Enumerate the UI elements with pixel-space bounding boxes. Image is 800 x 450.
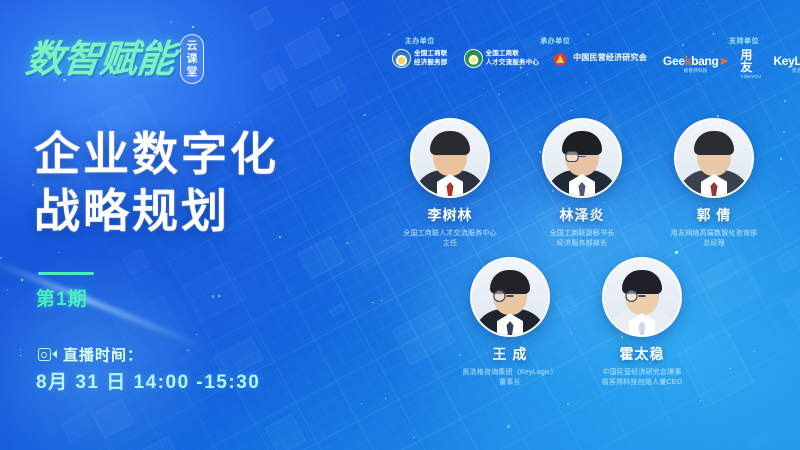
page-title-line-1: 企业数字化 bbox=[34, 126, 364, 183]
page-title-line-2: 战略规划 bbox=[34, 183, 364, 240]
partner-group-2: 支持单位Geekbang➤极客邦科技用友YONYOUKeyLogic凯洛格 bbox=[663, 36, 800, 79]
partner-wordmark-sub: 极客邦科技 bbox=[684, 68, 708, 74]
brand-wordmark: 数智赋能 bbox=[24, 40, 176, 78]
glasses-icon bbox=[626, 290, 659, 301]
emblem-green-icon bbox=[464, 49, 483, 68]
avatar bbox=[410, 118, 490, 198]
partner-group-label: 支持单位 bbox=[729, 36, 759, 46]
avatar bbox=[470, 257, 550, 337]
brand-logo: 数智赋能 云 课 堂 bbox=[26, 34, 204, 84]
speaker-card: 王 成凯洛格咨询集团（KeyLogic）董事长 bbox=[446, 257, 574, 388]
emblem-red-icon bbox=[551, 49, 570, 68]
avatar bbox=[602, 257, 682, 337]
partner-logo: 中国民营经济研究会 bbox=[551, 49, 647, 68]
speaker-name: 郭 倩 bbox=[697, 205, 732, 225]
brand-badge-cloud-classroom: 云 课 堂 bbox=[180, 34, 204, 84]
speaker-card: 霍太稳中国民营经济研究会理事极客邦科技创始人兼CEO bbox=[578, 257, 706, 388]
partner-group-logos: Geekbang➤极客邦科技用友YONYOUKeyLogic凯洛格 bbox=[663, 49, 800, 79]
partner-wordmark: KeyLogic bbox=[773, 55, 800, 67]
speaker-title: 全国工商联人才交流服务中心主任 bbox=[403, 229, 497, 249]
partner-group-0: 主办单位全国工商联经济服务部 bbox=[392, 36, 448, 68]
glasses-icon bbox=[494, 290, 527, 301]
speakers-row-bottom: 王 成凯洛格咨询集团（KeyLogic）董事长霍太稳中国民营经济研究会理事极客邦… bbox=[446, 257, 786, 388]
brand-badge-char-3: 堂 bbox=[187, 66, 198, 78]
live-datetime: 8月 31 日 14:00 -15:30 bbox=[36, 367, 260, 394]
partner-group-label: 承办单位 bbox=[540, 36, 570, 46]
speaker-title: 全国工商联副秘书长经济服务部部长 bbox=[550, 229, 615, 249]
video-camera-icon bbox=[38, 348, 57, 361]
partner-logo: 全国工商联人才交流服务中心 bbox=[464, 49, 540, 68]
partner-logo-text: 全国工商联人才交流服务中心 bbox=[486, 50, 540, 67]
partner-wordmark: Geekbang➤ bbox=[663, 55, 728, 67]
emblem-blue-icon bbox=[392, 49, 411, 68]
poster-canvas: 数智赋能 云 课 堂 主办单位全国工商联经济服务部承办单位全国工商联人才交流服务… bbox=[0, 0, 800, 450]
live-time-label: 直播时间： bbox=[63, 344, 143, 365]
speakers-section: 李树林全国工商联人才交流服务中心主任林泽炎全国工商联副秘书长经济服务部部长郭 倩… bbox=[386, 118, 786, 389]
partner-logo-bar: 主办单位全国工商联经济服务部承办单位全国工商联人才交流服务中心中国民营经济研究会… bbox=[392, 36, 800, 79]
partner-logo-text: 全国工商联经济服务部 bbox=[414, 50, 448, 67]
speaker-name: 霍太稳 bbox=[620, 344, 665, 364]
speaker-name: 林泽炎 bbox=[560, 205, 605, 225]
speaker-title: 中国民营经济研究会理事极客邦科技创始人兼CEO bbox=[602, 368, 683, 388]
partner-wordmark-sub: 凯洛格 bbox=[792, 68, 800, 74]
partner-wordmark: 用友 bbox=[740, 49, 761, 73]
partner-logo: 全国工商联经济服务部 bbox=[392, 49, 448, 68]
speaker-title: 用友网络高端数智化咨询部总经理 bbox=[671, 229, 757, 249]
speakers-row-top: 李树林全国工商联人才交流服务中心主任林泽炎全国工商联副秘书长经济服务部部长郭 倩… bbox=[386, 118, 786, 249]
partner-logo: KeyLogic凯洛格 bbox=[773, 55, 800, 74]
partner-logo-text: 中国民营经济研究会 bbox=[573, 53, 647, 63]
speaker-card: 郭 倩用友网络高端数智化咨询部总经理 bbox=[650, 118, 778, 249]
partner-wordmark-sub: YONYOU bbox=[740, 74, 761, 79]
speaker-card: 林泽炎全国工商联副秘书长经济服务部部长 bbox=[518, 118, 646, 249]
glasses-icon bbox=[566, 151, 599, 162]
episode-divider bbox=[38, 272, 94, 275]
partner-group-1: 承办单位全国工商联人才交流服务中心中国民营经济研究会 bbox=[464, 36, 647, 68]
episode-label: 第1期 bbox=[36, 284, 88, 311]
speaker-name: 李树林 bbox=[428, 205, 473, 225]
speaker-card: 李树林全国工商联人才交流服务中心主任 bbox=[386, 118, 514, 249]
avatar bbox=[674, 118, 754, 198]
brand-badge-char-2: 课 bbox=[187, 53, 198, 65]
partner-group-logos: 全国工商联经济服务部 bbox=[392, 49, 448, 68]
brand-badge-char-1: 云 bbox=[187, 40, 198, 52]
page-title: 企业数字化 战略规划 bbox=[34, 126, 364, 240]
avatar bbox=[542, 118, 622, 198]
partner-group-logos: 全国工商联人才交流服务中心中国民营经济研究会 bbox=[464, 49, 647, 68]
speaker-name: 王 成 bbox=[493, 344, 528, 364]
partner-logo: Geekbang➤极客邦科技 bbox=[663, 55, 728, 74]
live-time-row: 直播时间： bbox=[38, 344, 143, 365]
partner-logo: 用友YONYOU bbox=[740, 49, 761, 79]
partner-group-label: 主办单位 bbox=[405, 36, 435, 46]
speaker-title: 凯洛格咨询集团（KeyLogic）董事长 bbox=[462, 368, 557, 388]
